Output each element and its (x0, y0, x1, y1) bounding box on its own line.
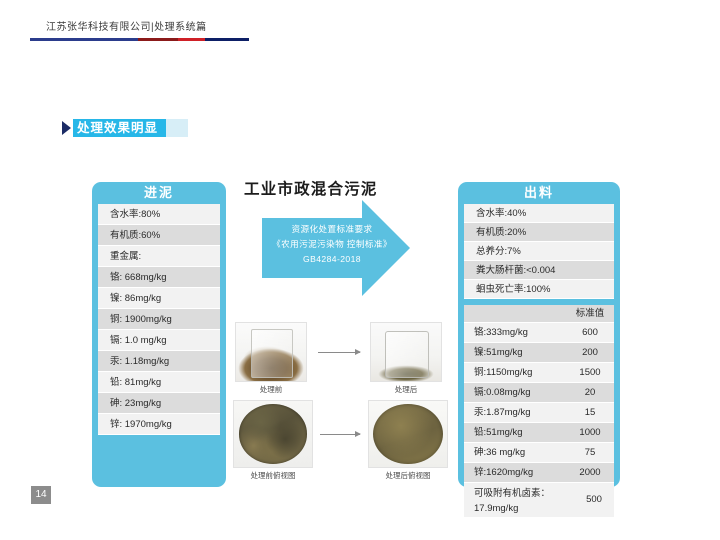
outlet-table-item: 铬:333mg/kg (464, 323, 566, 342)
inlet-row: 铅: 81mg/kg (98, 372, 220, 393)
outlet-table-standard: 20 (566, 383, 614, 402)
outlet-table-item: 镉:0.08mg/kg (464, 383, 566, 402)
outlet-table-standard: 1500 (566, 363, 614, 382)
outlet-row: 粪大肠杆菌:<0.004 (464, 261, 614, 280)
inlet-row: 铬: 668mg/kg (98, 267, 220, 288)
caption-before-topview: 处理前俯视图 (225, 470, 321, 481)
outlet-table-col2-header: 标准值 (566, 305, 614, 322)
outlet-table-header-row: 标准值 (464, 305, 614, 323)
page-number-badge: 14 (31, 486, 51, 504)
inlet-row: 汞: 1.18mg/kg (98, 351, 220, 372)
outlet-table-item: 汞:1.87mg/kg (464, 403, 566, 422)
section-title-label: 处理效果明显 (77, 122, 158, 135)
section-title-band: 处理效果明显 (73, 119, 166, 137)
outlet-table-row: 铅:51mg/kg1000 (464, 423, 614, 443)
outlet-table-standard: 15 (566, 403, 614, 422)
outlet-table-item: 铅:51mg/kg (464, 423, 566, 442)
inlet-row: 含水率:80% (98, 204, 220, 225)
outlet-row: 含水率:40% (464, 204, 614, 223)
outlet-table-standard: 600 (566, 323, 614, 342)
arrow-standard-text: 资源化处置标准要求 《农用污泥污染物 控制标准》 GB4284-2018 (262, 222, 402, 267)
outlet-table-item: 铜:1150mg/kg (464, 363, 566, 382)
photo-after-topview (368, 400, 448, 468)
inlet-panel: 进泥 含水率:80%有机质:60%重金属:铬: 668mg/kg镍: 86mg/… (92, 182, 226, 487)
outlet-table-item: 砷:36 mg/kg (464, 443, 566, 462)
outlet-table-item: 镍:51mg/kg (464, 343, 566, 362)
inlet-panel-title: 进泥 (92, 182, 226, 204)
inlet-row: 重金属: (98, 246, 220, 267)
outlet-table-row: 铜:1150mg/kg1500 (464, 363, 614, 383)
inlet-row: 锌: 1970mg/kg (98, 414, 220, 435)
outlet-table-col1-header (464, 305, 566, 322)
section-title-tail (166, 119, 188, 137)
outlet-table-item: 可吸附有机卤素：17.9mg/kg (464, 483, 574, 517)
outlet-table-standard: 2000 (566, 463, 614, 482)
mini-arrow-top-icon (318, 352, 360, 353)
mini-arrow-bottom-icon (320, 434, 360, 435)
company-header-text: 江苏张华科技有限公司|处理系统篇 (46, 18, 207, 33)
caption-after: 处理后 (370, 384, 442, 395)
outlet-table-standard: 200 (566, 343, 614, 362)
photo-before-topview (233, 400, 313, 468)
outlet-table-standard: 500 (574, 483, 614, 517)
header-rule-red (178, 38, 205, 41)
outlet-standard-table: 标准值铬:333mg/kg600镍:51mg/kg200铜:1150mg/kg1… (464, 305, 614, 518)
photo-after-beaker (370, 322, 442, 382)
slide-canvas: 江苏张华科技有限公司|处理系统篇 处理效果明显 工业市政混合污泥 资源化处置标准… (0, 0, 720, 540)
beaker-treated-art (371, 323, 441, 381)
arrow-text-line-1: 资源化处置标准要求 (262, 222, 402, 237)
header-rule-dark-red (138, 38, 178, 41)
outlet-row: 蛔虫死亡率:100% (464, 280, 614, 299)
triangle-marker-icon (62, 121, 71, 135)
inlet-row: 镉: 1.0 mg/kg (98, 330, 220, 351)
caption-after-topview: 处理后俯视图 (360, 470, 456, 481)
outlet-table-row: 铬:333mg/kg600 (464, 323, 614, 343)
slide-header: 江苏张华科技有限公司|处理系统篇 (0, 18, 720, 42)
caption-before: 处理前 (235, 384, 307, 395)
inlet-row: 有机质:60% (98, 225, 220, 246)
section-title: 处理效果明显 (62, 118, 188, 138)
dish-treated-art (369, 401, 447, 467)
beaker-sludge-art (236, 323, 306, 381)
outlet-table-row: 锌:1620mg/kg2000 (464, 463, 614, 483)
outlet-table-row: 汞:1.87mg/kg15 (464, 403, 614, 423)
outlet-row: 总养分:7% (464, 242, 614, 261)
outlet-table-standard: 75 (566, 443, 614, 462)
inlet-row: 砷: 23mg/kg (98, 393, 220, 414)
outlet-table-row: 可吸附有机卤素：17.9mg/kg500 (464, 483, 614, 518)
inlet-row: 镍: 86mg/kg (98, 288, 220, 309)
inlet-row-list: 含水率:80%有机质:60%重金属:铬: 668mg/kg镍: 86mg/kg铜… (98, 204, 220, 435)
outlet-panel-title: 出料 (458, 182, 620, 204)
outlet-table-standard: 1000 (566, 423, 614, 442)
page-title: 工业市政混合污泥 (244, 177, 378, 199)
outlet-table-row: 镍:51mg/kg200 (464, 343, 614, 363)
outlet-table-row: 砷:36 mg/kg75 (464, 443, 614, 463)
arrow-text-line-2: 《农用污泥污染物 控制标准》 (262, 237, 402, 252)
dish-sludge-art (234, 401, 312, 467)
outlet-row-list: 含水率:40%有机质:20%总养分:7%粪大肠杆菌:<0.004蛔虫死亡率:10… (464, 204, 614, 299)
outlet-table-row: 镉:0.08mg/kg20 (464, 383, 614, 403)
photo-before-beaker (235, 322, 307, 382)
outlet-row: 有机质:20% (464, 223, 614, 242)
inlet-row: 铜: 1900mg/kg (98, 309, 220, 330)
outlet-table-item: 锌:1620mg/kg (464, 463, 566, 482)
outlet-panel: 出料 含水率:40%有机质:20%总养分:7%粪大肠杆菌:<0.004蛔虫死亡率… (458, 182, 620, 487)
arrow-text-line-3: GB4284-2018 (262, 252, 402, 267)
header-rule-navy-right (205, 38, 249, 41)
